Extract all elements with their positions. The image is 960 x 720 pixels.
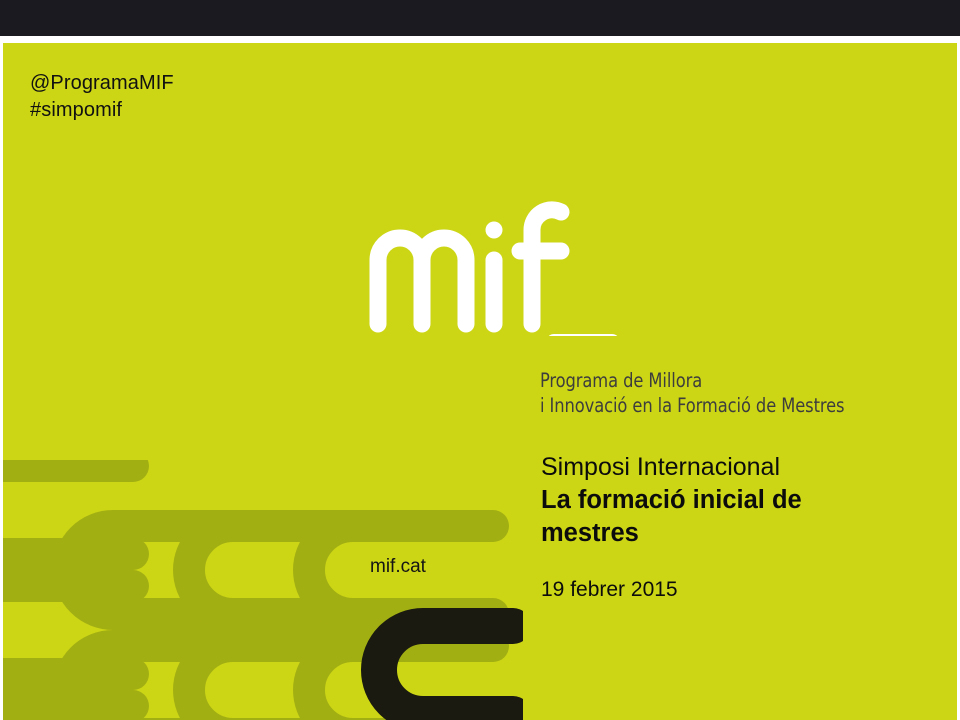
- title-block: Simposi Internacional La formació inicia…: [541, 451, 931, 603]
- slide-canvas: @ProgramaMIF #simpomif Program: [3, 43, 957, 720]
- mif-tagline: Programa de Millora i Innovació en la Fo…: [540, 368, 884, 418]
- event-kicker: Simposi Internacional: [541, 451, 931, 484]
- mif-logo: Programa de Millora i Innovació en la Fo…: [368, 196, 908, 436]
- bracket-stripes-pattern: [3, 460, 523, 720]
- slide-top-divider: [0, 36, 960, 43]
- mif-wordmark-icon: [368, 196, 628, 336]
- website-label: mif.cat: [370, 556, 426, 578]
- slide-top-bar: [0, 0, 960, 36]
- event-title: La formació inicial de mestres: [541, 484, 931, 550]
- presentation-slide: @ProgramaMIF #simpomif Program: [0, 0, 960, 720]
- social-handles: @ProgramaMIF #simpomif: [30, 70, 174, 124]
- black-bracket-mark: [379, 626, 513, 714]
- event-date: 19 febrer 2015: [541, 577, 931, 603]
